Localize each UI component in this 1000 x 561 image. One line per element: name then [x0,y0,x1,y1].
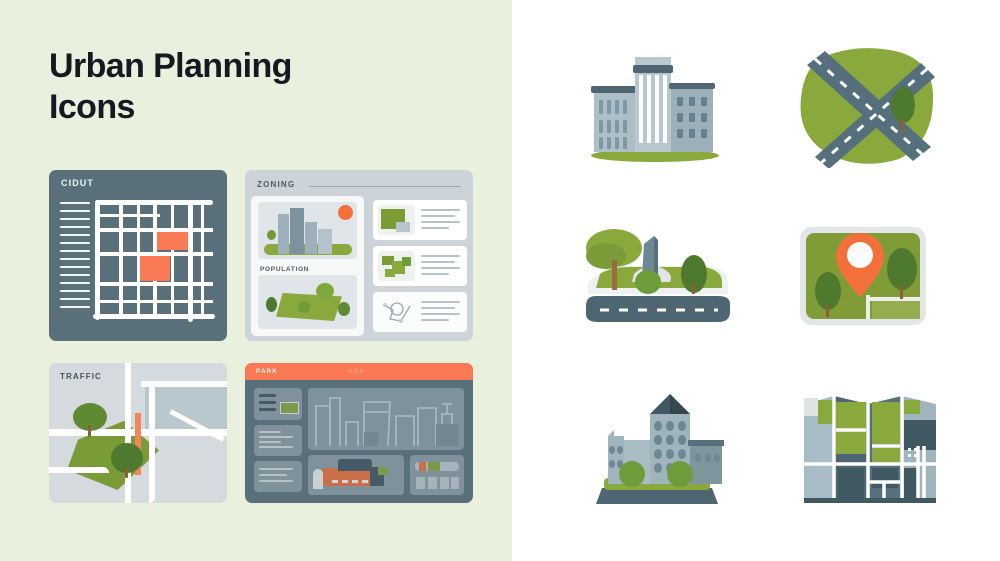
map-tree-left [815,272,841,310]
card-traffic-label: TRAFFIC [60,372,102,381]
park-header-bar: PARK ABK [245,363,473,380]
icon-park-with-road[interactable] [578,222,738,330]
park-stats-panel [410,455,464,495]
zoning-population-label: POPULATION [260,266,309,273]
card-traffic[interactable]: TRAFFIC [49,363,227,503]
title-line-2: Icons [49,87,469,128]
city-skyline-icon [308,388,464,450]
park-label-left: PARK [256,368,278,375]
zoning-list-item-3[interactable] [373,292,467,332]
zoning-list-item-1[interactable] [373,200,467,240]
icon-office-buildings[interactable] [585,45,725,165]
location-pin-dot [847,242,873,268]
icon-crossroads[interactable] [795,43,940,168]
icon-civic-building[interactable] [578,392,736,508]
map-tree-right [887,248,917,290]
zoning-list-item-2[interactable] [373,246,467,286]
park-tree-large-trunk [612,260,617,290]
route-diagram-icon [381,300,413,324]
civic-base [596,488,718,504]
park-tree-small [635,270,661,294]
park-skyline-panel [308,388,464,450]
civic-tree-left [619,461,645,487]
left-panel: Adobe Stock | #1887527492 Urban Planning… [0,0,512,561]
park-vehicle-panel [308,455,404,495]
map-block [872,299,920,319]
city-legend-ticks [60,202,90,314]
icon-map-location-pin[interactable] [798,225,928,327]
zoning-city-thumbnail [258,202,357,259]
zoning-population-thumbnail [258,275,357,329]
card-city-label: CIDUT [61,178,94,188]
zoning-header-label: ZONING [257,180,295,189]
icon-folded-city-map[interactable] [800,390,940,508]
city-street-grid [93,194,217,332]
park-label-right: ABK [348,368,365,375]
park-sidebar-panel-3[interactable] [254,461,302,492]
illustration-canvas: Adobe Stock | #1887527492 Urban Planning… [0,0,1000,561]
card-city-layout[interactable]: CIDUT [49,170,227,341]
civic-right-wing [690,444,722,484]
card-zoning[interactable]: ZONING POPULATION [245,170,473,341]
folded-map-base [804,498,936,503]
crossroads-tree [891,87,915,123]
page-title: Urban Planning Icons [49,46,469,129]
civic-tree-right [667,461,693,487]
title-line-1: Urban Planning [49,46,469,87]
zoning-preview-panel[interactable]: POPULATION [251,196,364,336]
park-sidebar-panel-2[interactable] [254,425,302,456]
card-park-dashboard[interactable]: PARK ABK [245,363,473,503]
park-sidebar-panel-1[interactable] [254,388,302,420]
zoning-header-rule [309,186,461,187]
